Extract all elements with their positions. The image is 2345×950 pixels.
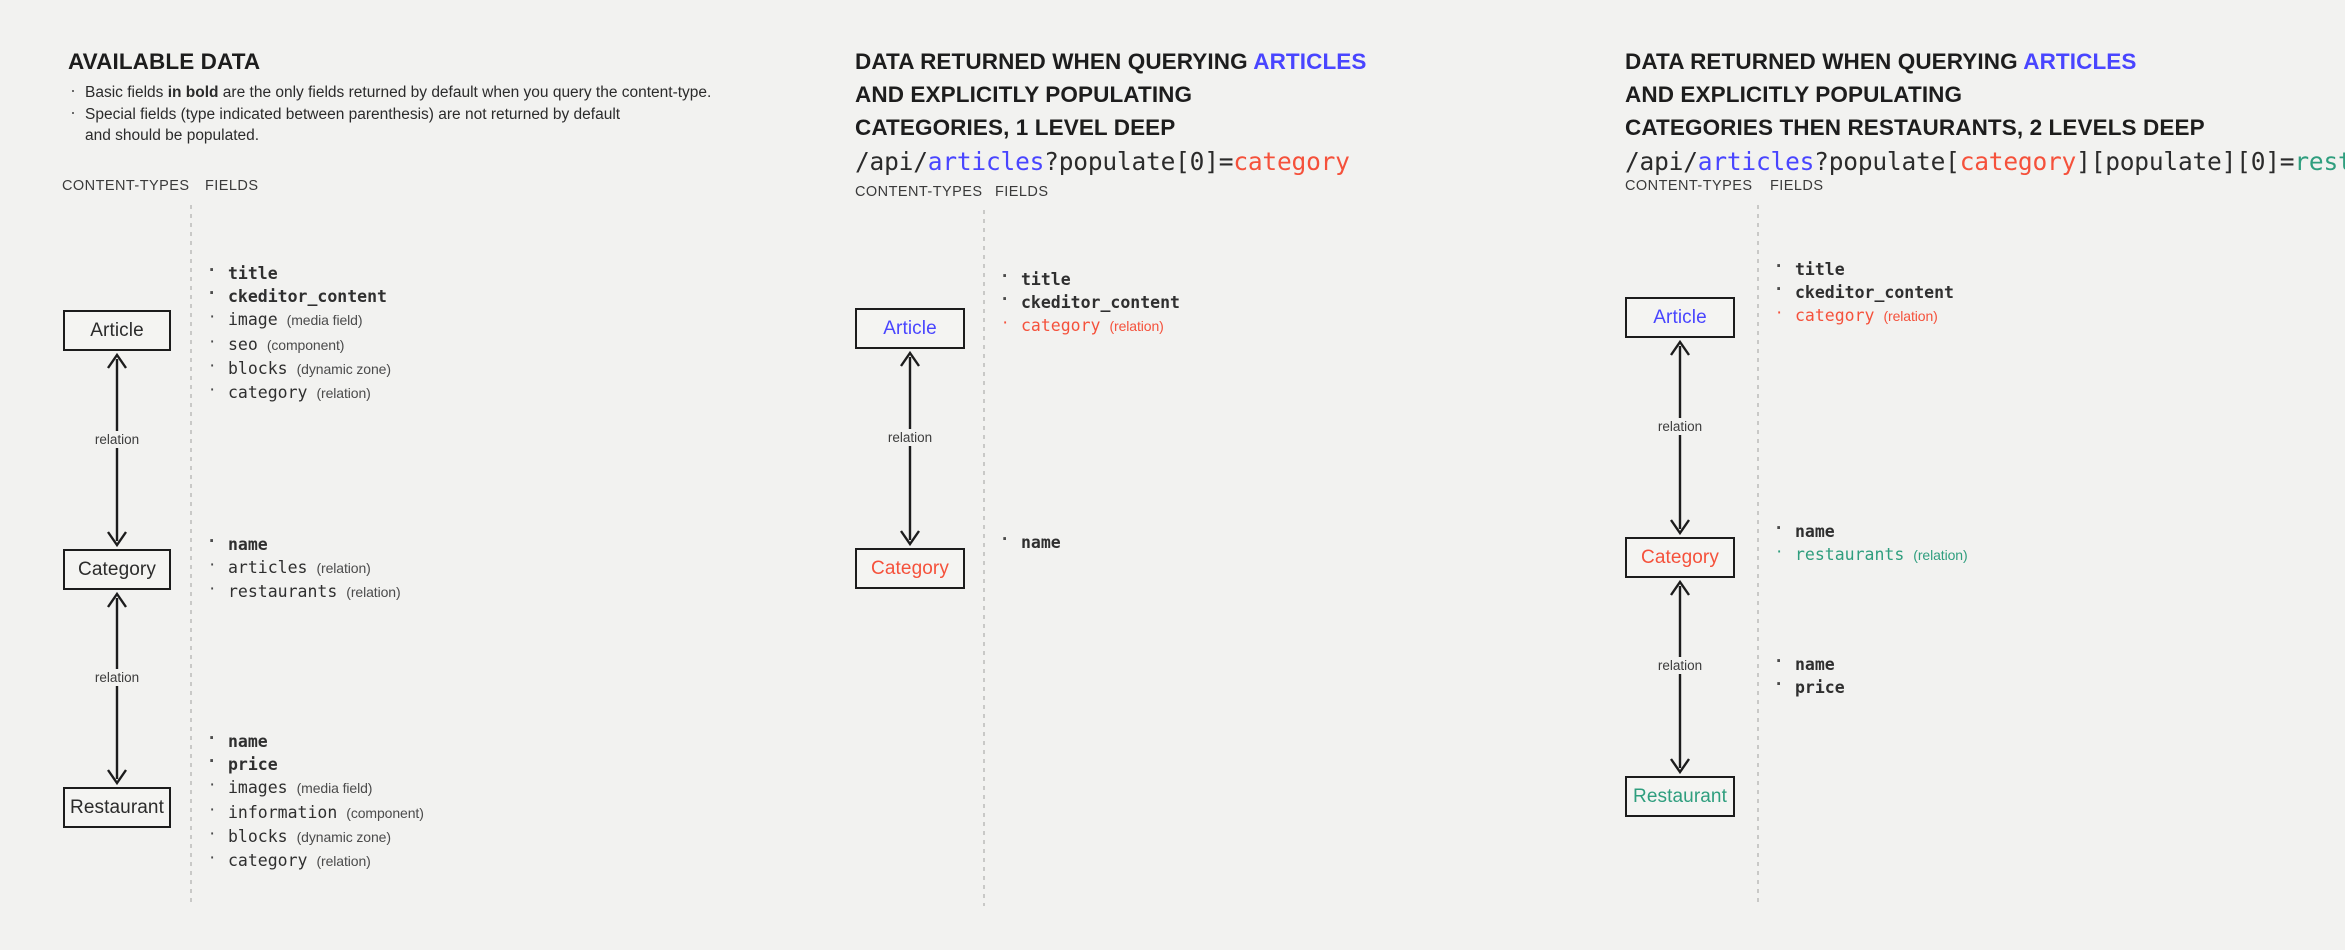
field-name: name [1021,533,1061,552]
column-3-heading-line1-highlight: ARTICLES [2023,49,2136,74]
field-type: (component) [346,805,424,821]
query3-part-articles: articles [1698,147,1814,176]
intro-bullet-1-bold: in bold [168,84,219,101]
field-type: (relation) [1883,308,1937,324]
field-images: images(media field) [206,776,424,800]
field-name: name [228,732,268,751]
node-restaurant-label: Restaurant [1633,786,1727,808]
connector-article-category: relation [63,351,171,549]
field-name: name [999,531,1061,554]
field-name: name [1795,655,1835,674]
field-name: seo [228,335,258,354]
column-2-heading-line1: DATA RETURNED WHEN QUERYING ARTICLES [855,45,1367,78]
column-3-heading-line2: AND EXPLICITLY POPULATING [1625,78,2205,111]
field-name: restaurants [1795,545,1904,564]
field-image: image(media field) [206,308,391,332]
node-category[interactable]: Category [855,548,965,589]
column-2-heading-line1-highlight: ARTICLES [1253,49,1366,74]
field-name: name [1795,522,1835,541]
node-article[interactable]: Article [1625,297,1735,338]
column-2-heading-line3: CATEGORIES, 1 LEVEL DEEP [855,111,1367,144]
field-category: category(relation) [999,314,1180,338]
field-type: (media field) [287,312,363,328]
field-name: information [228,803,337,822]
col2-sublabel-content-types: CONTENT-TYPES [855,184,983,200]
field-seo: seo(component) [206,333,391,357]
node-category[interactable]: Category [1625,537,1735,578]
node-restaurant[interactable]: Restaurant [63,787,171,828]
column-3-query-string: /api/articles?populate[category][populat… [1625,148,2345,176]
query2-part-articles: articles [928,147,1044,176]
column-2-heading-line2: AND EXPLICITLY POPULATING [855,78,1367,111]
fields-category: namearticles(relation)restaurants(relati… [206,533,401,605]
field-name: name [206,730,424,753]
relation-label-article-category: relation [90,431,144,448]
field-title: title [1773,258,1954,281]
node-restaurant[interactable]: Restaurant [1625,776,1735,817]
query3-part-populate-inner: ][populate][0]= [2076,147,2294,176]
field-type: (dynamic zone) [297,361,391,377]
field-name: images [228,778,288,797]
field-name: ckeditor_content [228,287,387,306]
field-name: name [1773,520,1968,543]
field-name: restaurants [228,582,337,601]
connector-article-category: relation [1625,338,1735,537]
column-1-heading-text: AVAILABLE DATA [68,49,260,74]
col1-vertical-divider [190,205,192,905]
field-name: price [228,755,278,774]
field-ckeditor-content: ckeditor_content [206,285,391,308]
field-type: (relation) [1913,547,1967,563]
intro-notes: Basic fields in bold are the only fields… [68,82,711,147]
field-name: category [228,383,307,402]
field-blocks: blocks(dynamic zone) [206,825,424,849]
col1-sublabel-content-types: CONTENT-TYPES [62,178,190,194]
fields-restaurant: nameprice [1773,653,1845,699]
column-3-heading: DATA RETURNED WHEN QUERYING ARTICLES AND… [1625,45,2205,144]
relation-label-category-restaurant: relation [90,669,144,686]
field-name: category [228,851,307,870]
field-name: blocks [228,827,288,846]
field-type: (relation) [316,385,370,401]
field-blocks: blocks(dynamic zone) [206,357,391,381]
connector-category-restaurant: relation [63,590,171,787]
query3-part-category: category [1960,147,2076,176]
col3-sublabel-content-types: CONTENT-TYPES [1625,178,1753,194]
field-category: category(relation) [206,849,424,873]
node-article[interactable]: Article [63,310,171,351]
field-ckeditor-content: ckeditor_content [999,291,1180,314]
relation-label-category-restaurant: relation [1653,657,1707,674]
field-name: category [1021,316,1100,335]
fields-article: titleckeditor_contentcategory(relation) [1773,258,1954,329]
col3-vertical-divider [1757,205,1759,905]
column-3-heading-line1: DATA RETURNED WHEN QUERYING ARTICLES [1625,45,2205,78]
fields-restaurant: namepriceimages(media field)information(… [206,730,424,873]
field-title: title [206,262,391,285]
col1-sublabel-fields: FIELDS [205,178,258,194]
column-1-heading: AVAILABLE DATA [68,45,260,78]
connector-article-category: relation [855,349,965,548]
field-category: category(relation) [1773,304,1954,328]
query3-part-populate-open: ?populate[ [1814,147,1960,176]
field-type: (relation) [316,560,370,576]
column-2-heading-line1-a: DATA RETURNED WHEN QUERYING [855,49,1253,74]
field-type: (media field) [297,780,373,796]
field-price: price [1773,676,1845,699]
column-3-heading-line1-a: DATA RETURNED WHEN QUERYING [1625,49,2023,74]
column-2-heading: DATA RETURNED WHEN QUERYING ARTICLES AND… [855,45,1367,144]
field-name: articles [228,558,307,577]
field-restaurants: restaurants(relation) [1773,543,1968,567]
field-type: (relation) [1109,318,1163,334]
node-article-label: Article [1653,307,1707,329]
query3-part-prefix: /api/ [1625,147,1698,176]
field-name: ckeditor_content [1795,283,1954,302]
field-name: price [1795,678,1845,697]
field-name: name [1773,653,1845,676]
field-name: name [228,535,268,554]
field-name: category [1795,306,1874,325]
query3-part-restaurants: restaurants [2294,147,2345,176]
intro-bullet-2: Special fields (type indicated between p… [68,104,711,126]
node-category-label: Category [871,558,949,580]
col2-sublabel-fields: FIELDS [995,184,1048,200]
intro-bullet-1-b: are the only fields returned by default … [219,84,712,101]
column-populate-1-level: DATA RETURNED WHEN QUERYING ARTICLES AND… [855,0,1625,950]
node-category-label: Category [1641,547,1719,569]
node-category-label: Category [78,559,156,581]
field-name: image [228,310,278,329]
field-title: title [999,268,1180,291]
query2-part-category: category [1233,147,1349,176]
field-restaurants: restaurants(relation) [206,580,401,604]
column-populate-2-levels: DATA RETURNED WHEN QUERYING ARTICLES AND… [1625,0,2345,950]
field-price: price [206,753,424,776]
node-category[interactable]: Category [63,549,171,590]
fields-category: name [999,531,1061,554]
field-type: (component) [267,337,345,353]
connector-category-restaurant: relation [1625,578,1735,776]
relation-label-article-category: relation [883,429,937,446]
field-type: (relation) [346,584,400,600]
field-category: category(relation) [206,381,391,405]
field-information: information(component) [206,801,424,825]
column-2-query-string: /api/articles?populate[0]=category [855,148,1350,176]
col2-vertical-divider [983,210,985,906]
fields-article: titleckeditor_contentcategory(relation) [999,268,1180,339]
node-article-label: Article [883,318,937,340]
query2-part-prefix: /api/ [855,147,928,176]
col3-sublabel-fields: FIELDS [1770,178,1823,194]
field-articles: articles(relation) [206,556,401,580]
column-available-data: AVAILABLE DATA Basic fields in bold are … [0,0,855,950]
node-article-label: Article [90,320,144,342]
intro-bullet-1-a: Basic fields [85,84,168,101]
relation-label-article-category: relation [1653,418,1707,435]
intro-bullet-1: Basic fields in bold are the only fields… [68,82,711,104]
diagram-canvas: AVAILABLE DATA Basic fields in bold are … [0,0,2345,950]
field-name: title [1021,270,1071,289]
fields-category: namerestaurants(relation) [1773,520,1968,567]
field-name: name [206,533,401,556]
intro-bullet-2-cont: and should be populated. [68,125,711,147]
field-name: title [1795,260,1845,279]
column-3-heading-line3: CATEGORIES THEN RESTAURANTS, 2 LEVELS DE… [1625,111,2205,144]
field-name: blocks [228,359,288,378]
field-ckeditor-content: ckeditor_content [1773,281,1954,304]
node-restaurant-label: Restaurant [70,797,164,819]
field-type: (relation) [316,853,370,869]
field-name: ckeditor_content [1021,293,1180,312]
fields-article: titleckeditor_contentimage(media field)s… [206,262,391,405]
field-type: (dynamic zone) [297,829,391,845]
node-article[interactable]: Article [855,308,965,349]
field-name: title [228,264,278,283]
intro-bullet-2-a: Special fields (type indicated between p… [85,106,620,123]
query2-part-populate: ?populate[0]= [1044,147,1233,176]
